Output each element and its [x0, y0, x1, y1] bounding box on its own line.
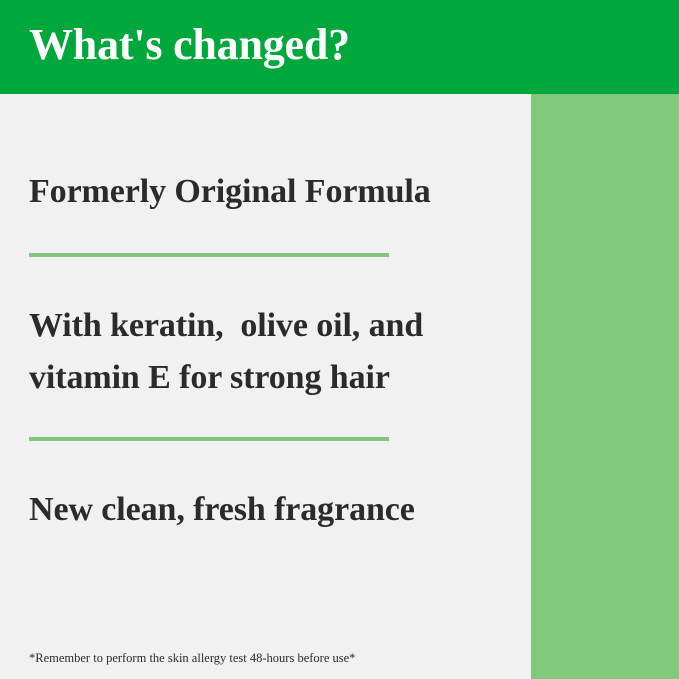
right-accent-panel [531, 0, 679, 679]
product-changes-infographic: What's changed? Formerly Original Formul… [0, 0, 679, 679]
claim-item-formerly-original-formula: Formerly Original Formula [29, 166, 431, 218]
claim-item-fragrance: New clean, fresh fragrance [29, 484, 415, 536]
claim-item-ingredients: With keratin, olive oil, and vitamin E f… [29, 300, 423, 404]
header-band: What's changed? [0, 0, 679, 94]
claim-divider-2 [29, 437, 389, 441]
claim-divider-1 [29, 253, 389, 257]
page-title: What's changed? [29, 17, 350, 73]
allergy-test-footnote: *Remember to perform the skin allergy te… [29, 650, 355, 666]
content-area: Formerly Original Formula With keratin, … [0, 94, 531, 679]
